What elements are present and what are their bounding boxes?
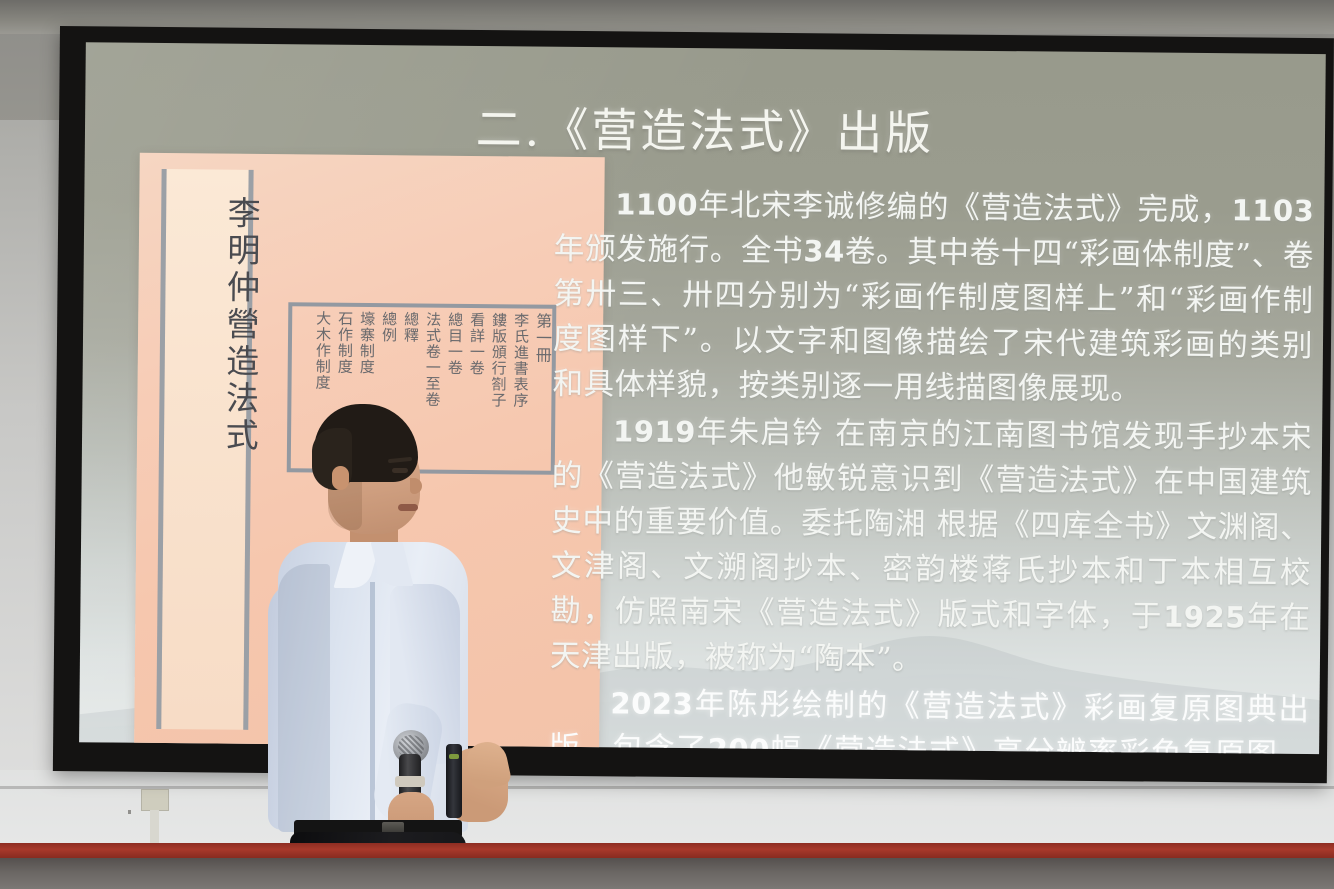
presenter-ear	[332, 466, 349, 490]
book-column-0: 第一冊	[527, 313, 551, 487]
wall-seam-line	[0, 786, 1334, 789]
projection-screen: 二.《营造法式》出版 李明仲營造法式 第一冊李氏進書表序鏤版頒行劄子看詳一卷總目…	[53, 26, 1334, 783]
presenter-nose	[410, 478, 422, 494]
slide-paragraph-p1: 1100年北宋李诚修编的《营造法式》完成，1103年颁发施行。全书34卷。其中卷…	[552, 182, 1314, 414]
slide-paragraph-p3: 2023年陈彤绘制的《营造法式》彩画复原图典出版，包含了200幅《营造法式》高分…	[548, 681, 1309, 754]
book-spine-title: 李明仲營造法式	[164, 195, 258, 455]
clicker-led-indicator	[449, 754, 459, 759]
slide-paragraph-p2: 1919年朱启钤 在南京的江南图书馆发现手抄本宋的《营造法式》他敏锐意识到《营造…	[550, 409, 1313, 686]
presenter-mouth	[398, 504, 418, 511]
microphone-band	[395, 776, 425, 787]
book-spine-strip: 李明仲營造法式	[156, 169, 253, 730]
stage-floor	[0, 858, 1334, 889]
slide-body-text: 1100年北宋李诚修编的《营造法式》完成，1103年颁发施行。全书34卷。其中卷…	[548, 182, 1314, 754]
presenter-shirt-shadow	[278, 564, 330, 832]
presenter-eye	[392, 468, 408, 473]
wall-outlet-plate	[141, 789, 169, 811]
presenter-person	[262, 404, 524, 889]
lecture-room-photo: 二.《营造法式》出版 李明仲營造法式 第一冊李氏進書表序鏤版頒行劄子看詳一卷總目…	[0, 0, 1334, 889]
wall-mark	[128, 810, 131, 814]
